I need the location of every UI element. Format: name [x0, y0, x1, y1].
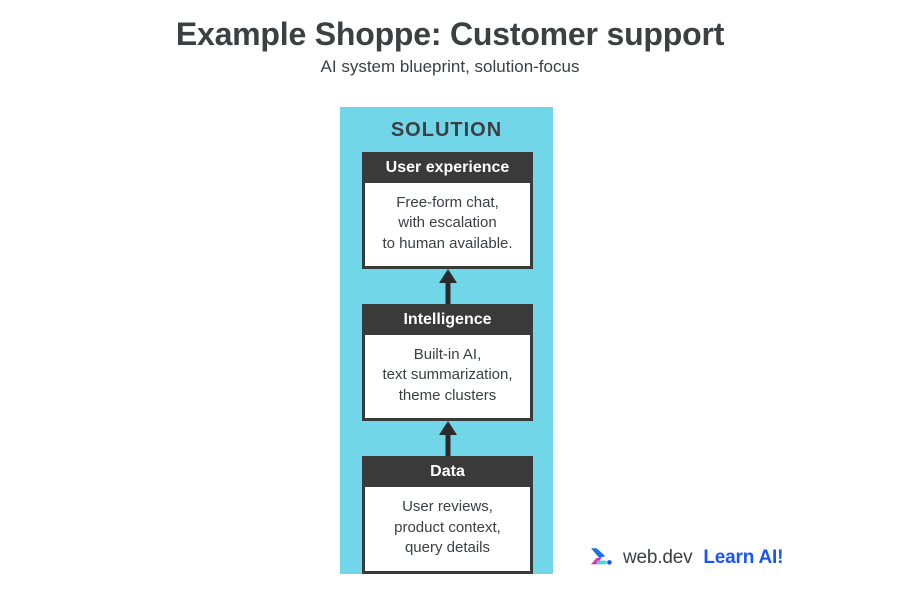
- layer-stack: User experience Free-form chat, with esc…: [362, 152, 533, 574]
- layer-title: Data: [365, 459, 530, 487]
- layer-body-line: product context,: [369, 518, 526, 539]
- layer-body-line: User reviews,: [369, 497, 526, 518]
- solution-panel-heading: SOLUTION: [340, 119, 553, 142]
- layer-body-line: theme clusters: [369, 386, 526, 407]
- layer-card-user-experience: User experience Free-form chat, with esc…: [362, 152, 533, 269]
- arrow-shaft: [445, 277, 450, 304]
- webdev-wordmark: web.dev: [623, 547, 692, 569]
- layer-title: User experience: [365, 155, 530, 183]
- layer-card-data: Data User reviews, product context, quer…: [362, 456, 533, 573]
- webdev-logo-lockup: web.dev Learn AI!: [588, 538, 801, 578]
- layer-body: Built-in AI, text summarization, theme c…: [365, 335, 530, 419]
- layer-body-line: Built-in AI,: [369, 345, 526, 366]
- arrow-shaft: [445, 429, 450, 456]
- layer-body-line: text summarization,: [369, 365, 526, 386]
- arrow-up-icon: [362, 421, 533, 456]
- layer-body-line: with escalation: [369, 213, 526, 234]
- page-title: Example Shoppe: Customer support: [0, 16, 900, 53]
- webdev-chevron-icon: [588, 545, 614, 571]
- layer-body: Free-form chat, with escalation to human…: [365, 183, 530, 267]
- layer-body: User reviews, product context, query det…: [365, 487, 530, 571]
- layer-body-line: Free-form chat,: [369, 193, 526, 214]
- layer-title: Intelligence: [365, 307, 530, 335]
- page-subtitle: AI system blueprint, solution-focus: [0, 57, 900, 77]
- layer-card-intelligence: Intelligence Built-in AI, text summariza…: [362, 304, 533, 421]
- learn-ai-tagline: Learn AI!: [703, 547, 783, 569]
- layer-body-line: to human available.: [369, 234, 526, 255]
- layer-body-line: query details: [369, 538, 526, 559]
- solution-panel: SOLUTION User experience Free-form chat,…: [340, 107, 553, 574]
- arrow-up-icon: [362, 269, 533, 304]
